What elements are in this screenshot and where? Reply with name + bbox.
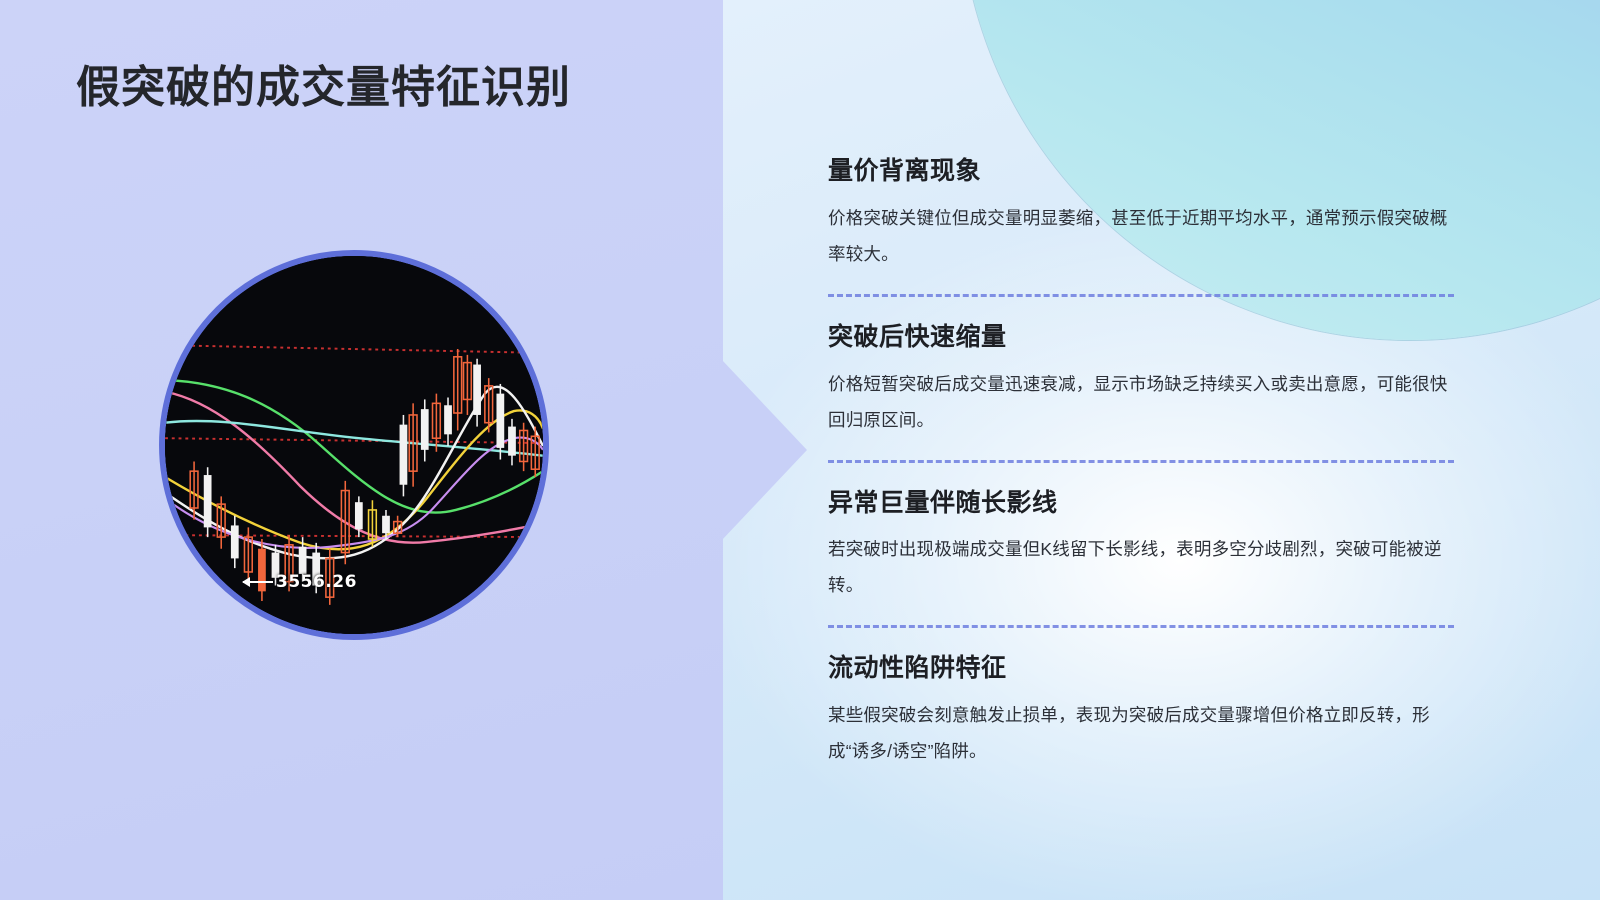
list-item: 量价背离现象 价格突破关键位但成交量明显萎缩，甚至低于近期平均水平，通常预示假突… bbox=[828, 155, 1454, 272]
item-title: 异常巨量伴随长影线 bbox=[828, 487, 1454, 521]
list-item: 异常巨量伴随长影线 若突破时出现极端成交量但K线留下长影线，表明多空分歧剧烈，突… bbox=[828, 487, 1454, 604]
price-value: 3556.26 bbox=[276, 572, 357, 592]
feature-list: 量价背离现象 价格突破关键位但成交量明显萎缩，甚至低于近期平均水平，通常预示假突… bbox=[828, 155, 1454, 769]
item-title: 流动性陷阱特征 bbox=[828, 652, 1454, 686]
item-title: 突破后快速缩量 bbox=[828, 321, 1454, 355]
list-item: 流动性陷阱特征 某些假突破会刻意触发止损单，表现为突破后成交量骤增但价格立即反转… bbox=[828, 652, 1454, 769]
item-description: 价格短暂突破后成交量迅速衰减，显示市场缺乏持续买入或卖出意愿，可能很快回归原区间… bbox=[828, 366, 1454, 438]
item-description: 某些假突破会刻意触发止损单，表现为突破后成交量骤增但价格立即反转，形成“诱多/诱… bbox=[828, 697, 1454, 769]
slide-root: 假突破的成交量特征识别 bbox=[0, 0, 1600, 900]
chart-circle-frame: 3556.26 bbox=[159, 250, 549, 640]
left-arrow-icon bbox=[243, 581, 273, 583]
item-description: 若突破时出现极端成交量但K线留下长影线，表明多空分歧剧烈，突破可能被逆转。 bbox=[828, 531, 1454, 603]
candlestick-stock-chart: 3556.26 bbox=[165, 256, 543, 634]
item-divider bbox=[828, 294, 1454, 297]
price-label: 3556.26 bbox=[243, 572, 357, 592]
list-item: 突破后快速缩量 价格短暂突破后成交量迅速衰减，显示市场缺乏持续买入或卖出意愿，可… bbox=[828, 321, 1454, 438]
item-description: 价格突破关键位但成交量明显萎缩，甚至低于近期平均水平，通常预示假突破概率较大。 bbox=[828, 200, 1454, 272]
item-divider bbox=[828, 460, 1454, 463]
page-title: 假突破的成交量特征识别 bbox=[76, 62, 676, 115]
panel-arrow-pointer bbox=[722, 360, 807, 540]
item-title: 量价背离现象 bbox=[828, 155, 1454, 189]
item-divider bbox=[828, 625, 1454, 628]
